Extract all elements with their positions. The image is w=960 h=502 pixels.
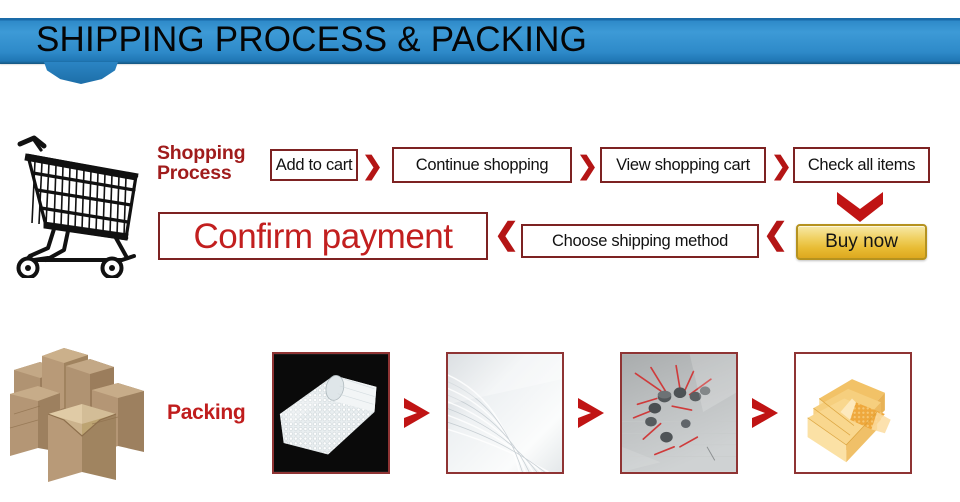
chevron-right-icon-3: ❯: [771, 154, 792, 179]
bubble-wrap-photo: [272, 352, 390, 474]
foam-sheet-photo: [446, 352, 564, 474]
step-confirm-payment[interactable]: Confirm payment: [158, 212, 488, 260]
step-view-shopping-cart[interactable]: View shopping cart: [600, 147, 766, 183]
step-continue-shopping[interactable]: Continue shopping: [392, 147, 572, 183]
page-title: SHIPPING PROCESS & PACKING: [36, 18, 587, 64]
shopping-process-label: Shopping Process: [157, 143, 262, 183]
shopping-cart-icon: [8, 130, 144, 278]
step-add-to-cart[interactable]: Add to cart: [270, 149, 358, 181]
padded-envelope-photo: [794, 352, 912, 474]
cardboard-boxes-icon: [4, 342, 174, 484]
chevron-right-icon-packing-1: [400, 396, 436, 430]
step-choose-shipping-method[interactable]: Choose shipping method: [521, 224, 759, 258]
chevron-left-icon-2: ❮: [763, 220, 788, 250]
buy-now-button[interactable]: Buy now: [796, 224, 927, 260]
arrow-down-icon: [835, 190, 885, 224]
chevron-right-icon-1: ❯: [362, 154, 383, 179]
chevron-right-icon-packing-3: [748, 396, 784, 430]
step-check-all-items[interactable]: Check all items: [793, 147, 930, 183]
packing-label: Packing: [167, 401, 245, 425]
chevron-right-icon-packing-2: [574, 396, 610, 430]
chevron-right-icon-2: ❯: [577, 154, 598, 179]
shopping-process-label-line2: Process: [157, 163, 262, 183]
antistatic-bag-photo: [620, 352, 738, 474]
shipping-process-banner-image: SHIPPING PROCESS & PACKING: [0, 0, 960, 502]
banner-notch-shape: [44, 62, 118, 84]
chevron-left-icon-1: ❮: [494, 220, 519, 250]
shopping-process-label-line1: Shopping: [157, 143, 262, 163]
